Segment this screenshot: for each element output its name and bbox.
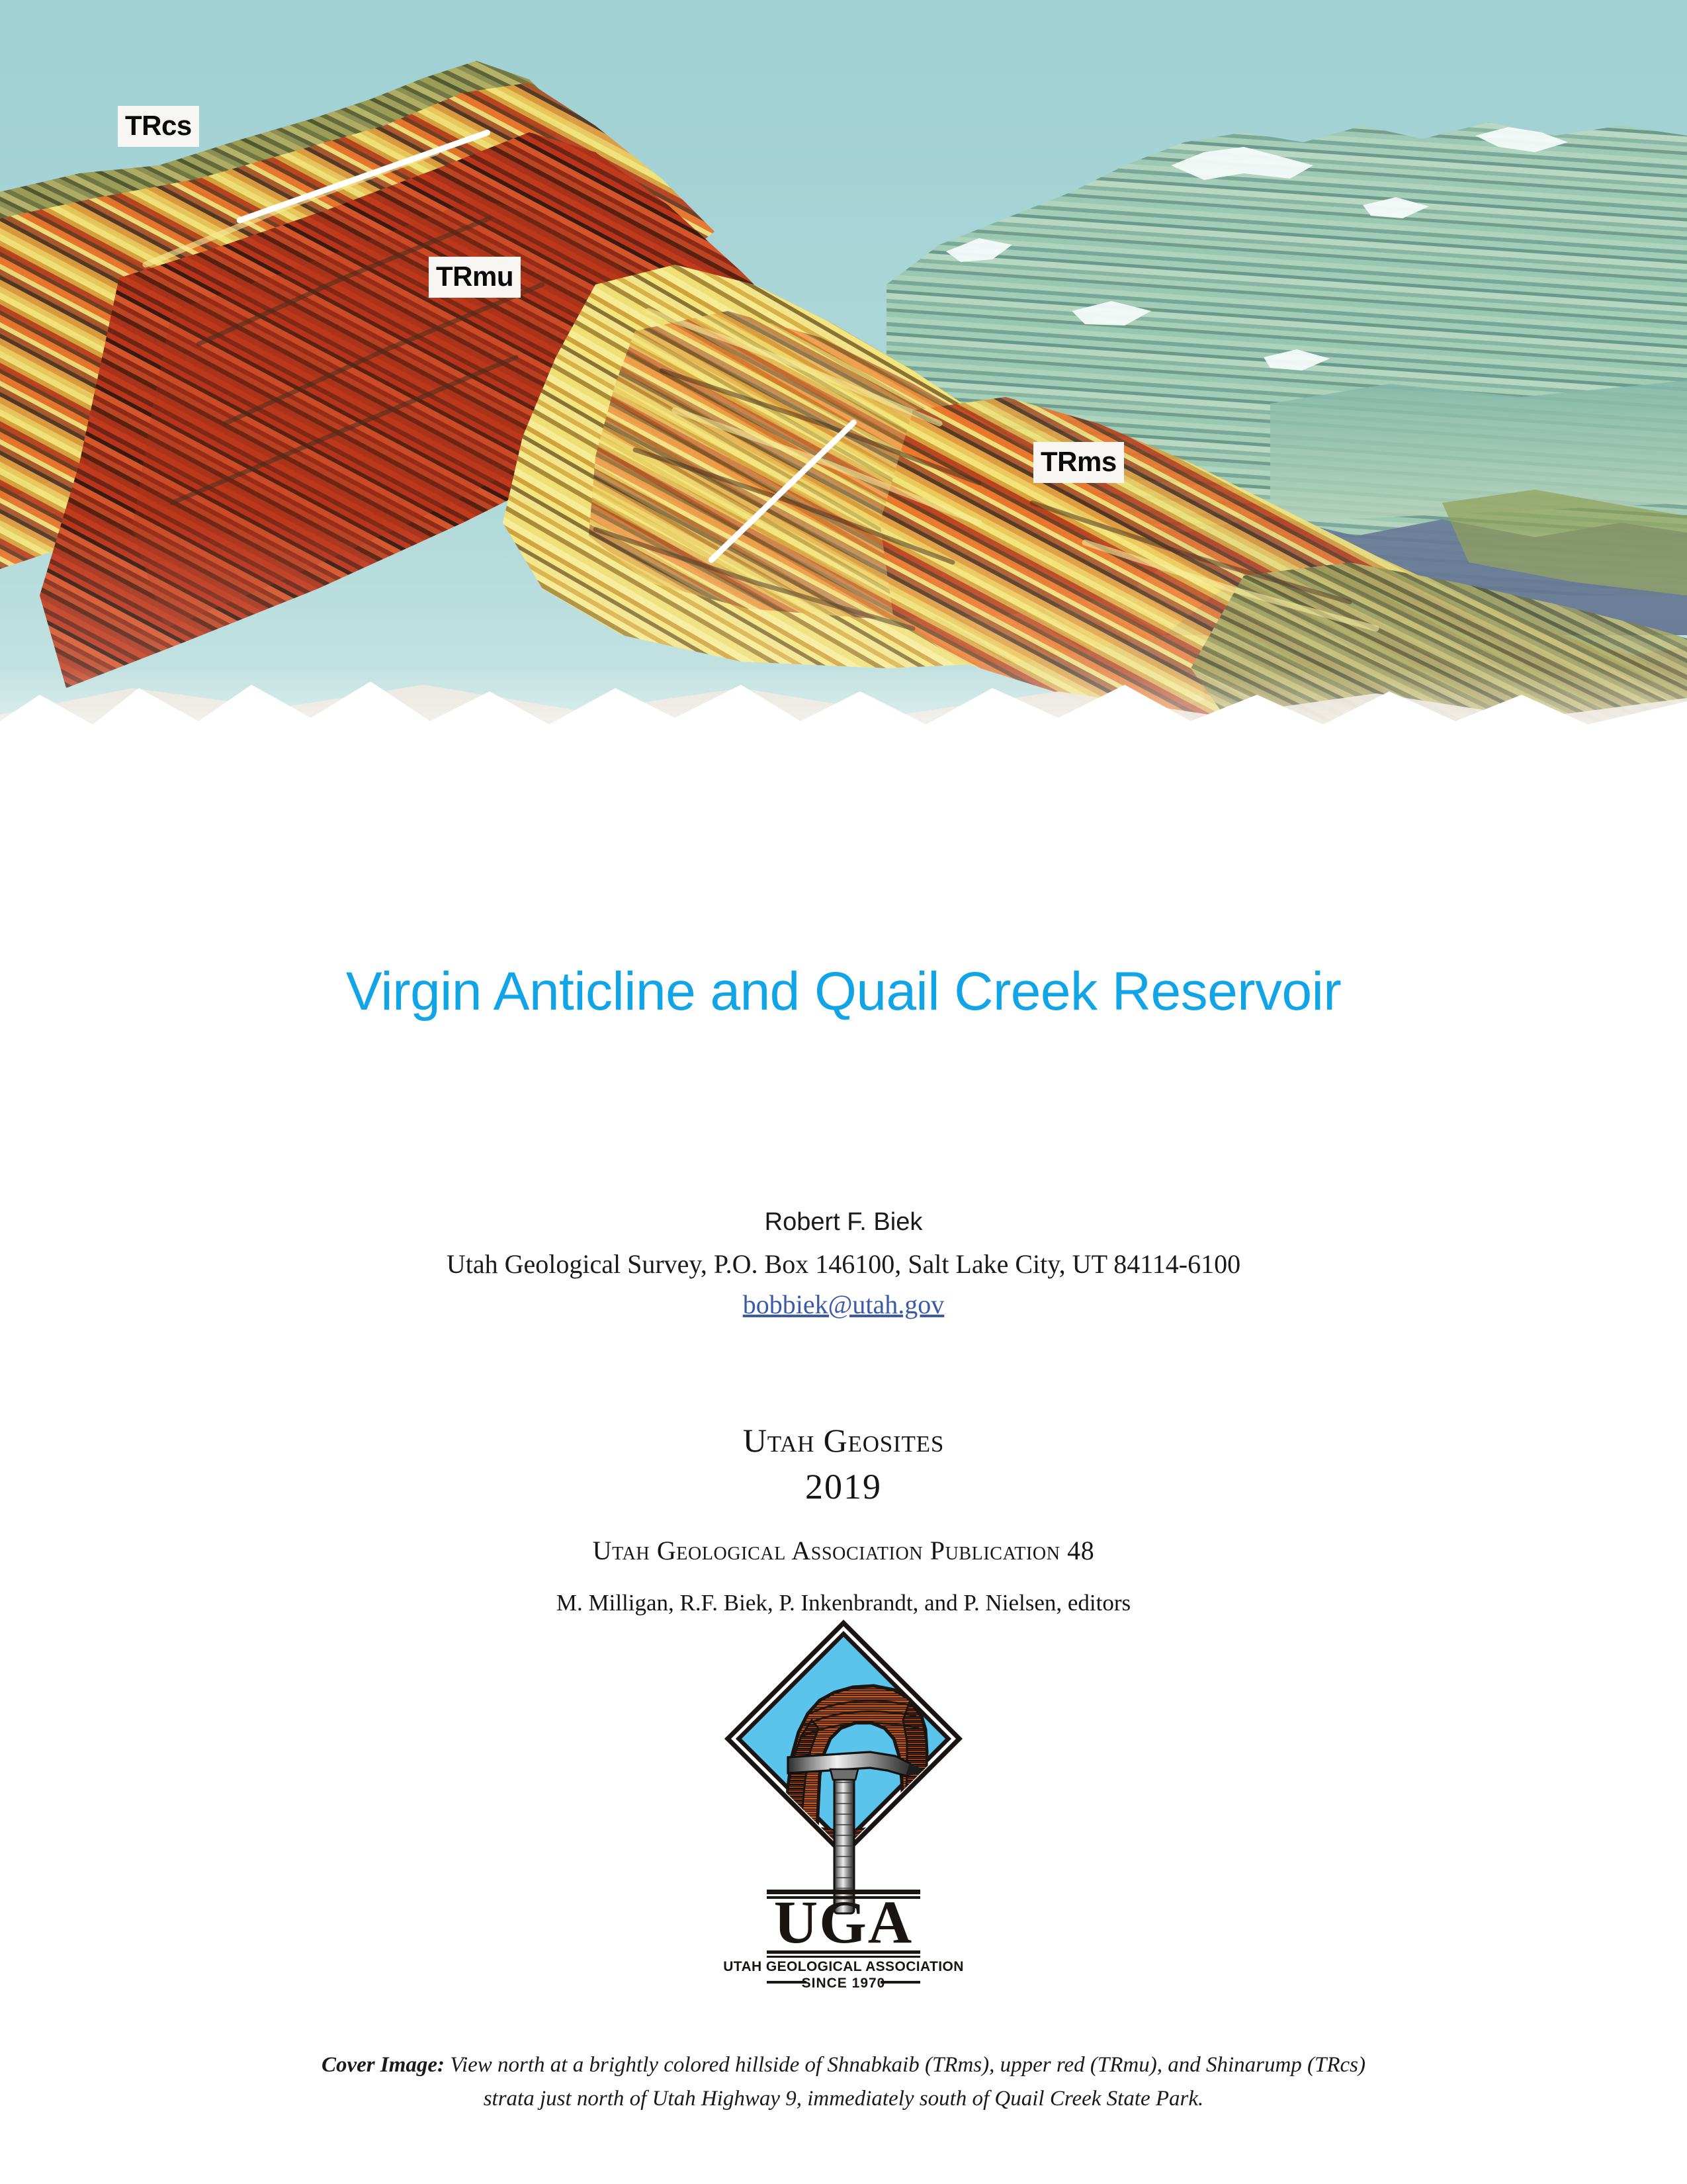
uga-since: SINCE 1970	[802, 1976, 886, 1991]
author-name: Robert F. Biek	[0, 1208, 1687, 1237]
uga-organization: UTAH GEOLOGICAL ASSOCIATION	[723, 1959, 964, 1974]
uga-logo-illustration: UGA UTAH GEOLOGICAL ASSOCIATION SINCE 19…	[714, 1609, 973, 1993]
author-affiliation: Utah Geological Survey, P.O. Box 146100,…	[0, 1248, 1687, 1280]
publication-number: Utah Geological Association Publication …	[0, 1535, 1687, 1566]
author-email-link[interactable]: bobbiek@utah.gov	[743, 1289, 945, 1319]
cover-photo: TRcs TRmu TRms	[0, 0, 1687, 834]
cover-photo-illustration	[0, 0, 1687, 834]
page-title: Virgin Anticline and Quail Creek Reservo…	[0, 961, 1687, 1023]
uga-logo: UGA UTAH GEOLOGICAL ASSOCIATION SINCE 19…	[714, 1609, 973, 1993]
caption-label: Cover Image:	[322, 2053, 445, 2077]
series-year: 2019	[0, 1466, 1687, 1507]
unit-label-trcs: TRcs	[118, 106, 199, 147]
publication-block: Utah Geosites 2019 Utah Geological Assoc…	[0, 1421, 1687, 1616]
cover-page: TRcs TRmu TRms Virgin Anticline and Quai…	[0, 0, 1687, 2184]
caption-line-1: View north at a brightly colored hillsid…	[445, 2053, 1365, 2077]
caption-line-2: strata just north of Utah Highway 9, imm…	[484, 2087, 1204, 2111]
author-block: Robert F. Biek Utah Geological Survey, P…	[0, 1208, 1687, 1320]
uga-acronym: UGA	[774, 1888, 913, 1956]
series-name: Utah Geosites	[0, 1421, 1687, 1460]
unit-label-trmu: TRmu	[429, 257, 521, 298]
cover-image-caption: Cover Image: View north at a brightly co…	[281, 2048, 1406, 2116]
pale-foreground-bench	[0, 685, 1687, 834]
unit-label-trms: TRms	[1033, 442, 1124, 483]
